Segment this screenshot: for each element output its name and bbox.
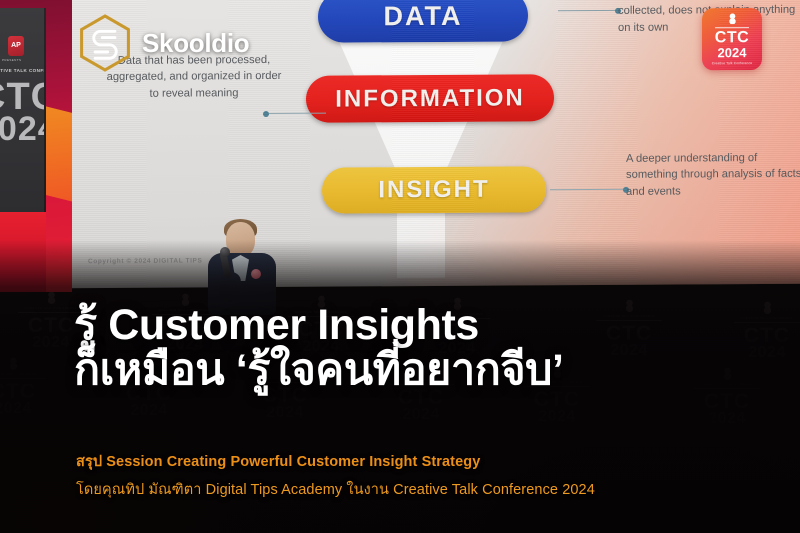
subtitle-line-1: สรุป Session Creating Powerful Customer … bbox=[76, 450, 776, 473]
skooldio-logo: Skooldio bbox=[78, 14, 249, 72]
subtitle-line-2: โดยคุณทิป มัณฑิตา Digital Tips Academy ใ… bbox=[76, 478, 796, 501]
headline-line-1: รู้ Customer Insights bbox=[74, 301, 479, 349]
skooldio-hexagon-s-logo-icon bbox=[78, 14, 132, 72]
headline-line-2: ก็เหมือน ‘รู้ใจคนที่อยากจีบ’ bbox=[74, 348, 734, 393]
headline: รู้ Customer Insights ก็เหมือน ‘รู้ใจคนท… bbox=[74, 303, 734, 393]
text-overlay: Skooldio รู้ Customer Insights ก็เหมือน … bbox=[0, 0, 800, 533]
skooldio-wordmark: Skooldio bbox=[142, 28, 249, 59]
screenshot-root: CREATIVE TALK CONFERENCE CTC 2024 CREATI… bbox=[0, 0, 800, 533]
